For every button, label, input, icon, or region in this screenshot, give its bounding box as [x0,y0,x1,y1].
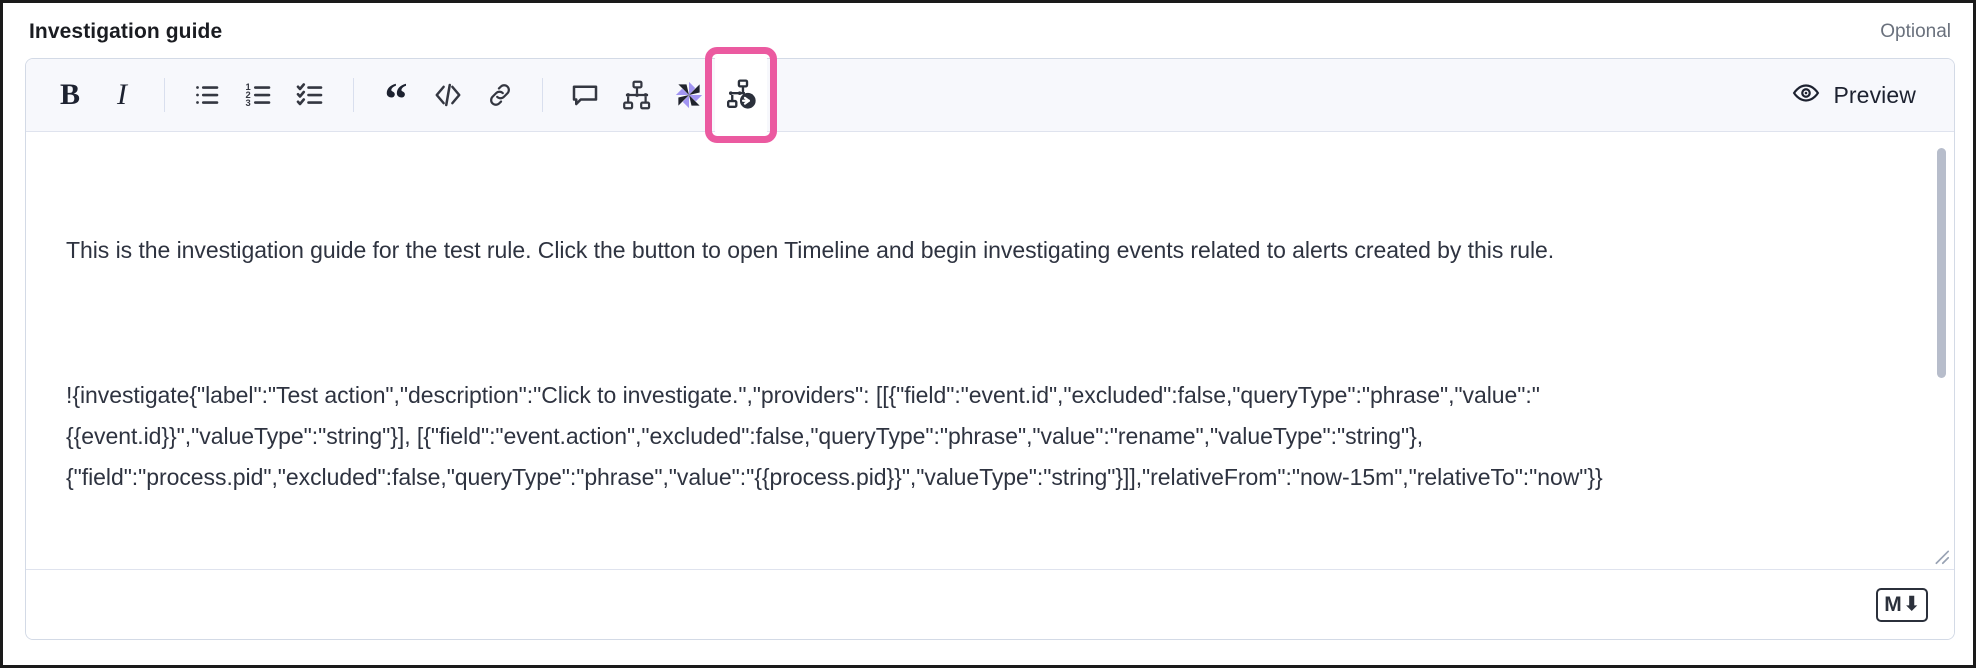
toolbar-divider [164,78,165,112]
eye-icon [1792,79,1820,112]
toolbar-divider [353,78,354,112]
markdown-syntax-badge[interactable]: M ⬇ [1876,588,1928,622]
bold-button[interactable]: B [44,69,96,121]
svg-text:3: 3 [246,98,251,108]
toolbar-divider [542,78,543,112]
blockquote-button[interactable]: “ [370,69,422,121]
bulleted-list-button[interactable] [181,69,233,121]
checklist-button[interactable] [285,69,337,121]
insert-investigation-action-button[interactable] [715,57,767,133]
editor-content: This is the investigation guide for the … [66,148,1866,569]
link-button[interactable] [474,69,526,121]
page-title: Investigation guide [29,20,222,44]
comment-button[interactable] [559,69,611,121]
numbered-list-button[interactable]: 1 2 3 [233,69,285,121]
markdown-textarea[interactable]: This is the investigation guide for the … [26,132,1954,569]
markdown-editor: B I 1 2 3 [25,58,1955,640]
preview-button[interactable]: Preview [1782,73,1928,118]
editor-toolbar: B I 1 2 3 [26,59,1954,132]
optional-badge: Optional [1880,21,1951,43]
quote-icon: “ [385,86,408,111]
code-block-button[interactable] [422,69,474,121]
textarea-scrollbar-thumb[interactable] [1937,148,1946,378]
italic-button[interactable]: I [96,69,148,121]
markdown-badge-letter: M [1884,594,1902,615]
timeline-button[interactable] [611,69,663,121]
preview-label: Preview [1833,82,1916,109]
markdown-badge-arrow-icon: ⬇ [1904,595,1920,614]
investigation-guide-editor-screen: Investigation guide Optional B I 1 [0,0,1976,668]
insert-investigation-action-highlight [715,57,767,133]
editor-footer: M ⬇ [26,569,1954,639]
paragraph-investigate-action: !{investigate{"label":"Test action","des… [66,375,1866,498]
osquery-button[interactable] [663,69,715,121]
paragraph-intro: This is the investigation guide for the … [66,230,1866,271]
field-header: Investigation guide Optional [3,3,1976,61]
resize-handle-icon[interactable] [1929,544,1951,566]
